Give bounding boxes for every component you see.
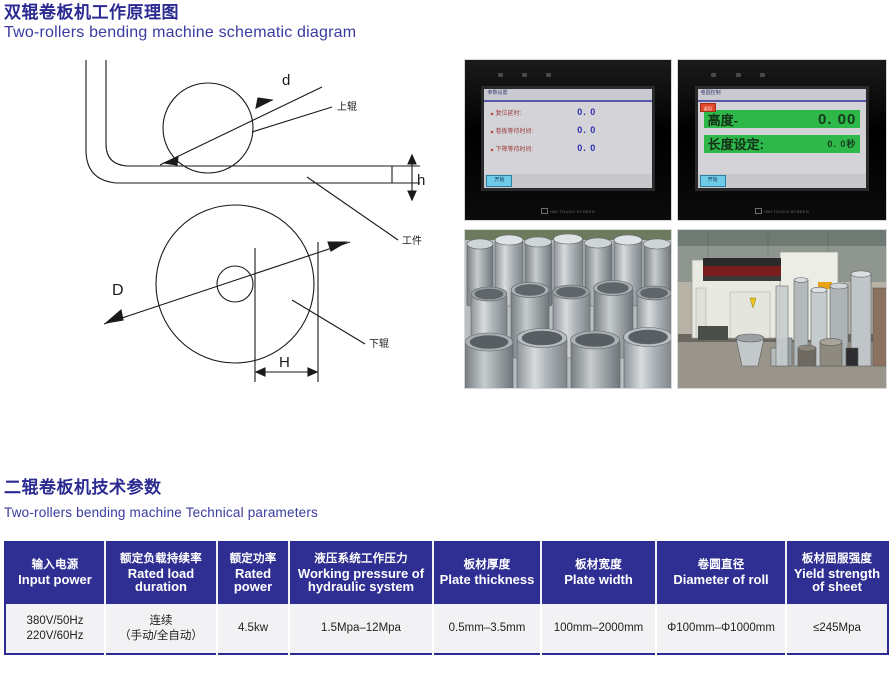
H-arrow-right <box>308 368 317 376</box>
col-cn: 额定功率 <box>220 553 286 566</box>
col-en: Rated power <box>220 567 286 594</box>
hmi-1-bezel: 参数设置 复位延时: 0. 0 卷板等待时间: 0. 0 下降等待时间: 0. … <box>465 60 671 220</box>
hmi-2-height-value: 0. 00 <box>818 111 856 128</box>
cylinders-illustration <box>465 230 672 389</box>
workpiece-leader <box>307 177 398 240</box>
hmi-2-bezel: 卷圆控制 返回 高度- 0. 00 长度设定: 0. 0秒 开始 <box>678 60 886 220</box>
column-header-rated-power: 额定功率 Rated power <box>217 542 289 604</box>
lower-roll-leader <box>292 300 365 344</box>
hmi-2-length-row: 长度设定: 0. 0秒 <box>704 135 861 154</box>
page-title: 双辊卷板机工作原理图 Two-rollers bending machine s… <box>4 3 356 42</box>
hmi-2-titlebar: 卷圆控制 <box>698 89 867 102</box>
column-header-rated-load-duration: 额定负载持续率 Rated load duration <box>105 542 217 604</box>
hmi-2-footer: 开始 <box>698 174 867 188</box>
technical-parameters-table: 输入电源 Input power 额定负载持续率 Rated load dura… <box>4 541 889 655</box>
column-header-plate-width: 板材宽度 Plate width <box>541 542 656 604</box>
hmi-1-param-value: 0. 0 <box>577 107 645 117</box>
d-arrow-left <box>164 157 178 165</box>
col-en: Rated load duration <box>108 567 214 594</box>
hmi-2-content: 返回 高度- 0. 00 长度设定: 0. 0秒 <box>698 102 867 175</box>
cell-yield-strength: ≤245Mpa <box>786 604 888 654</box>
cell-line-2: （手动/全自动） <box>108 629 214 644</box>
spec-title-en: Two-rollers bending machine Technical pa… <box>4 503 318 522</box>
label-lower-roll: 下辊 <box>369 337 389 350</box>
rolled-cylinders-photo <box>464 229 672 389</box>
hmi-2-leds <box>711 73 765 78</box>
col-cn: 板材宽度 <box>544 559 653 572</box>
cell-plate-thickness: 0.5mm–3.5mm <box>433 604 541 654</box>
column-header-working-pressure: 液压系统工作压力 Working pressure of hydraulic s… <box>289 542 433 604</box>
hmi-2-height-row: 高度- 0. 00 <box>704 110 861 129</box>
hmi-2-length-label: 长度设定: <box>708 134 828 153</box>
hmi-1-content: 复位延时: 0. 0 卷板等待时间: 0. 0 下降等待时间: 0. 0 <box>484 102 651 175</box>
cell-line-1: 连续 <box>108 614 214 629</box>
page-root: 双辊卷板机工作原理图 Two-rollers bending machine s… <box>0 0 891 685</box>
machine-illustration <box>678 230 887 389</box>
h-arrow-bottom <box>408 191 416 200</box>
hmi-1-param-row: 复位延时: 0. 0 <box>490 104 645 122</box>
cell-line-2: 220V/60Hz <box>8 629 102 644</box>
page-title-cn: 双辊卷板机工作原理图 <box>4 3 356 23</box>
schematic-svg: d h D H 上辊 下辊 工件 <box>60 52 460 402</box>
hmi-1-footer: 开始 <box>484 174 651 188</box>
hmi-1-start-button: 开始 <box>486 175 512 187</box>
hmi-2-length-value: 0. 0秒 <box>827 137 856 150</box>
col-en: Input power <box>8 573 102 587</box>
col-cn: 额定负载持续率 <box>108 553 214 566</box>
col-en: Working pressure of hydraulic system <box>292 567 430 594</box>
label-d: d <box>282 72 290 89</box>
hmi-1-leds <box>498 73 552 78</box>
H-arrow-left <box>256 368 265 376</box>
cell-working-pressure: 1.5Mpa–12Mpa <box>289 604 433 654</box>
column-header-yield-strength: 板材屈服强度 Yield strength of sheet <box>786 542 888 604</box>
bending-machine-photo <box>677 229 887 389</box>
col-cn: 板材厚度 <box>436 559 538 572</box>
col-cn: 板材屈服强度 <box>789 553 885 566</box>
hmi-1-param-label: 复位延时: <box>490 108 577 117</box>
schematic-diagram: d h D H 上辊 下辊 工件 <box>60 52 460 402</box>
table-header-row: 输入电源 Input power 额定负载持续率 Rated load dura… <box>5 542 888 604</box>
hmi-2-screen: 卷圆控制 返回 高度- 0. 00 长度设定: 0. 0秒 开始 <box>695 86 870 192</box>
label-H: H <box>279 354 290 371</box>
column-header-diameter-of-roll: 卷圆直径 Diameter of roll <box>656 542 786 604</box>
D-arrow-right <box>328 242 346 251</box>
workpiece-inner-path <box>106 60 392 166</box>
d-arrow-right <box>256 98 272 108</box>
col-en: Plate width <box>544 573 653 587</box>
hmi-1-window-title: 参数设置 <box>487 89 507 98</box>
hmi-screen-photo-2: 卷圆控制 返回 高度- 0. 00 长度设定: 0. 0秒 开始 <box>677 59 887 221</box>
label-upper-roll: 上辊 <box>337 100 357 113</box>
hmi-1-brand: HMI TOUCH SCREEN <box>465 208 671 214</box>
page-title-en: Two-rollers bending machine schematic di… <box>4 23 356 42</box>
col-cn: 液压系统工作压力 <box>292 553 430 566</box>
hmi-2-window-title: 卷圆控制 <box>701 89 721 98</box>
hmi-2-back-button: 返回 <box>700 103 716 112</box>
cell-line-1: 380V/50Hz <box>8 614 102 629</box>
hmi-1-param-value: 0. 0 <box>577 125 645 135</box>
upper-roller-diameter-line <box>160 87 322 165</box>
upper-roll-leader <box>252 107 332 132</box>
lower-roller-diameter-line <box>104 242 350 324</box>
hmi-1-param-label: 下降等待时间: <box>490 144 577 153</box>
hmi-2-height-label: 高度- <box>708 110 818 129</box>
cell-rated-power: 4.5kw <box>217 604 289 654</box>
hmi-1-param-row: 卷板等待时间: 0. 0 <box>490 121 645 139</box>
h-arrow-top <box>408 155 416 164</box>
hmi-1-param-label: 卷板等待时间: <box>490 126 577 135</box>
hmi-2-start-button: 开始 <box>700 175 726 187</box>
hmi-screen-photo-1: 参数设置 复位延时: 0. 0 卷板等待时间: 0. 0 下降等待时间: 0. … <box>464 59 672 221</box>
hmi-1-param-value: 0. 0 <box>577 143 645 153</box>
col-en: Plate thickness <box>436 573 538 587</box>
col-en: Yield strength of sheet <box>789 567 885 594</box>
lower-roller-circle <box>156 205 314 363</box>
cell-diameter-of-roll: Φ100mm–Φ1000mm <box>656 604 786 654</box>
cell-input-power: 380V/50Hz 220V/60Hz <box>5 604 105 654</box>
col-cn: 卷圆直径 <box>659 559 783 572</box>
cell-rated-load-duration: 连续 （手动/全自动） <box>105 604 217 654</box>
spec-title-cn: 二辊卷板机技术参数 <box>4 478 318 498</box>
hmi-1-param-row: 下降等待时间: 0. 0 <box>490 139 645 157</box>
column-header-plate-thickness: 板材厚度 Plate thickness <box>433 542 541 604</box>
table-row: 380V/50Hz 220V/60Hz 连续 （手动/全自动） 4.5kw 1.… <box>5 604 888 654</box>
column-header-input-power: 输入电源 Input power <box>5 542 105 604</box>
col-cn: 输入电源 <box>8 559 102 572</box>
hmi-1-titlebar: 参数设置 <box>484 89 651 102</box>
label-workpiece: 工件 <box>402 235 422 247</box>
col-en: Diameter of roll <box>659 573 783 587</box>
workpiece-outer-path <box>86 60 392 183</box>
spec-section-title: 二辊卷板机技术参数 Two-rollers bending machine Te… <box>4 478 318 522</box>
hmi-2-brand: HMI TOUCH SCREEN <box>678 208 886 214</box>
label-h: h <box>417 172 425 189</box>
label-D: D <box>112 282 124 299</box>
cell-plate-width: 100mm–2000mm <box>541 604 656 654</box>
hmi-1-screen: 参数设置 复位延时: 0. 0 卷板等待时间: 0. 0 下降等待时间: 0. … <box>481 86 654 192</box>
D-arrow-left <box>106 310 123 323</box>
